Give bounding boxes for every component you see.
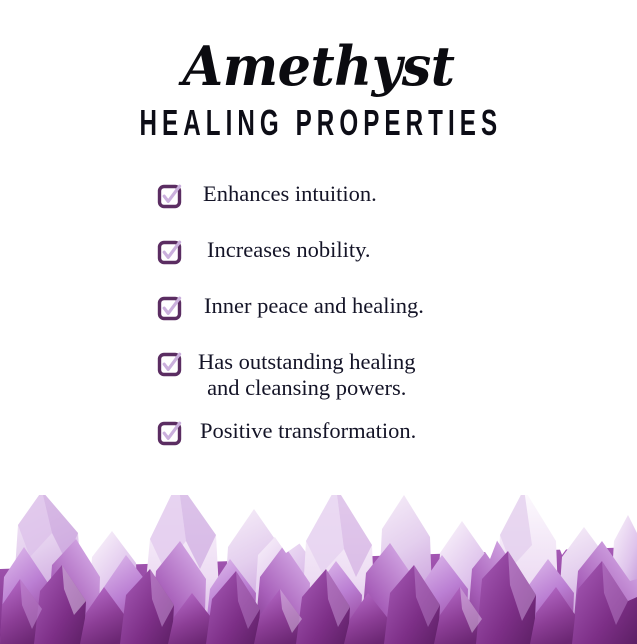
amethyst-healing-properties-poster: Amethyst HEALING PROPERTIES Enhances int… <box>0 0 637 644</box>
list-item-label: Inner peace and healing. <box>204 293 424 319</box>
checkbox-checked-icon[interactable] <box>157 351 183 377</box>
checkbox-checked-icon[interactable] <box>157 239 183 265</box>
page-subtitle: HEALING PROPERTIES <box>70 105 567 141</box>
page-title: Amethyst <box>10 38 628 95</box>
list-item-label: Increases nobility. <box>207 237 371 263</box>
list-item: Enhances intuition. <box>0 182 637 209</box>
list-item: Has outstanding healing and cleansing po… <box>0 350 637 401</box>
list-item-label: Enhances intuition. <box>203 181 377 207</box>
checkbox-checked-icon[interactable] <box>157 295 183 321</box>
poster-header: Amethyst HEALING PROPERTIES <box>0 0 637 136</box>
amethyst-crystal-cluster-image <box>0 429 637 644</box>
list-item: Increases nobility. <box>0 238 637 265</box>
list-item: Inner peace and healing. <box>0 294 637 321</box>
list-item-label: Has outstanding healing and cleansing po… <box>198 349 415 401</box>
checkbox-checked-icon[interactable] <box>157 183 183 209</box>
